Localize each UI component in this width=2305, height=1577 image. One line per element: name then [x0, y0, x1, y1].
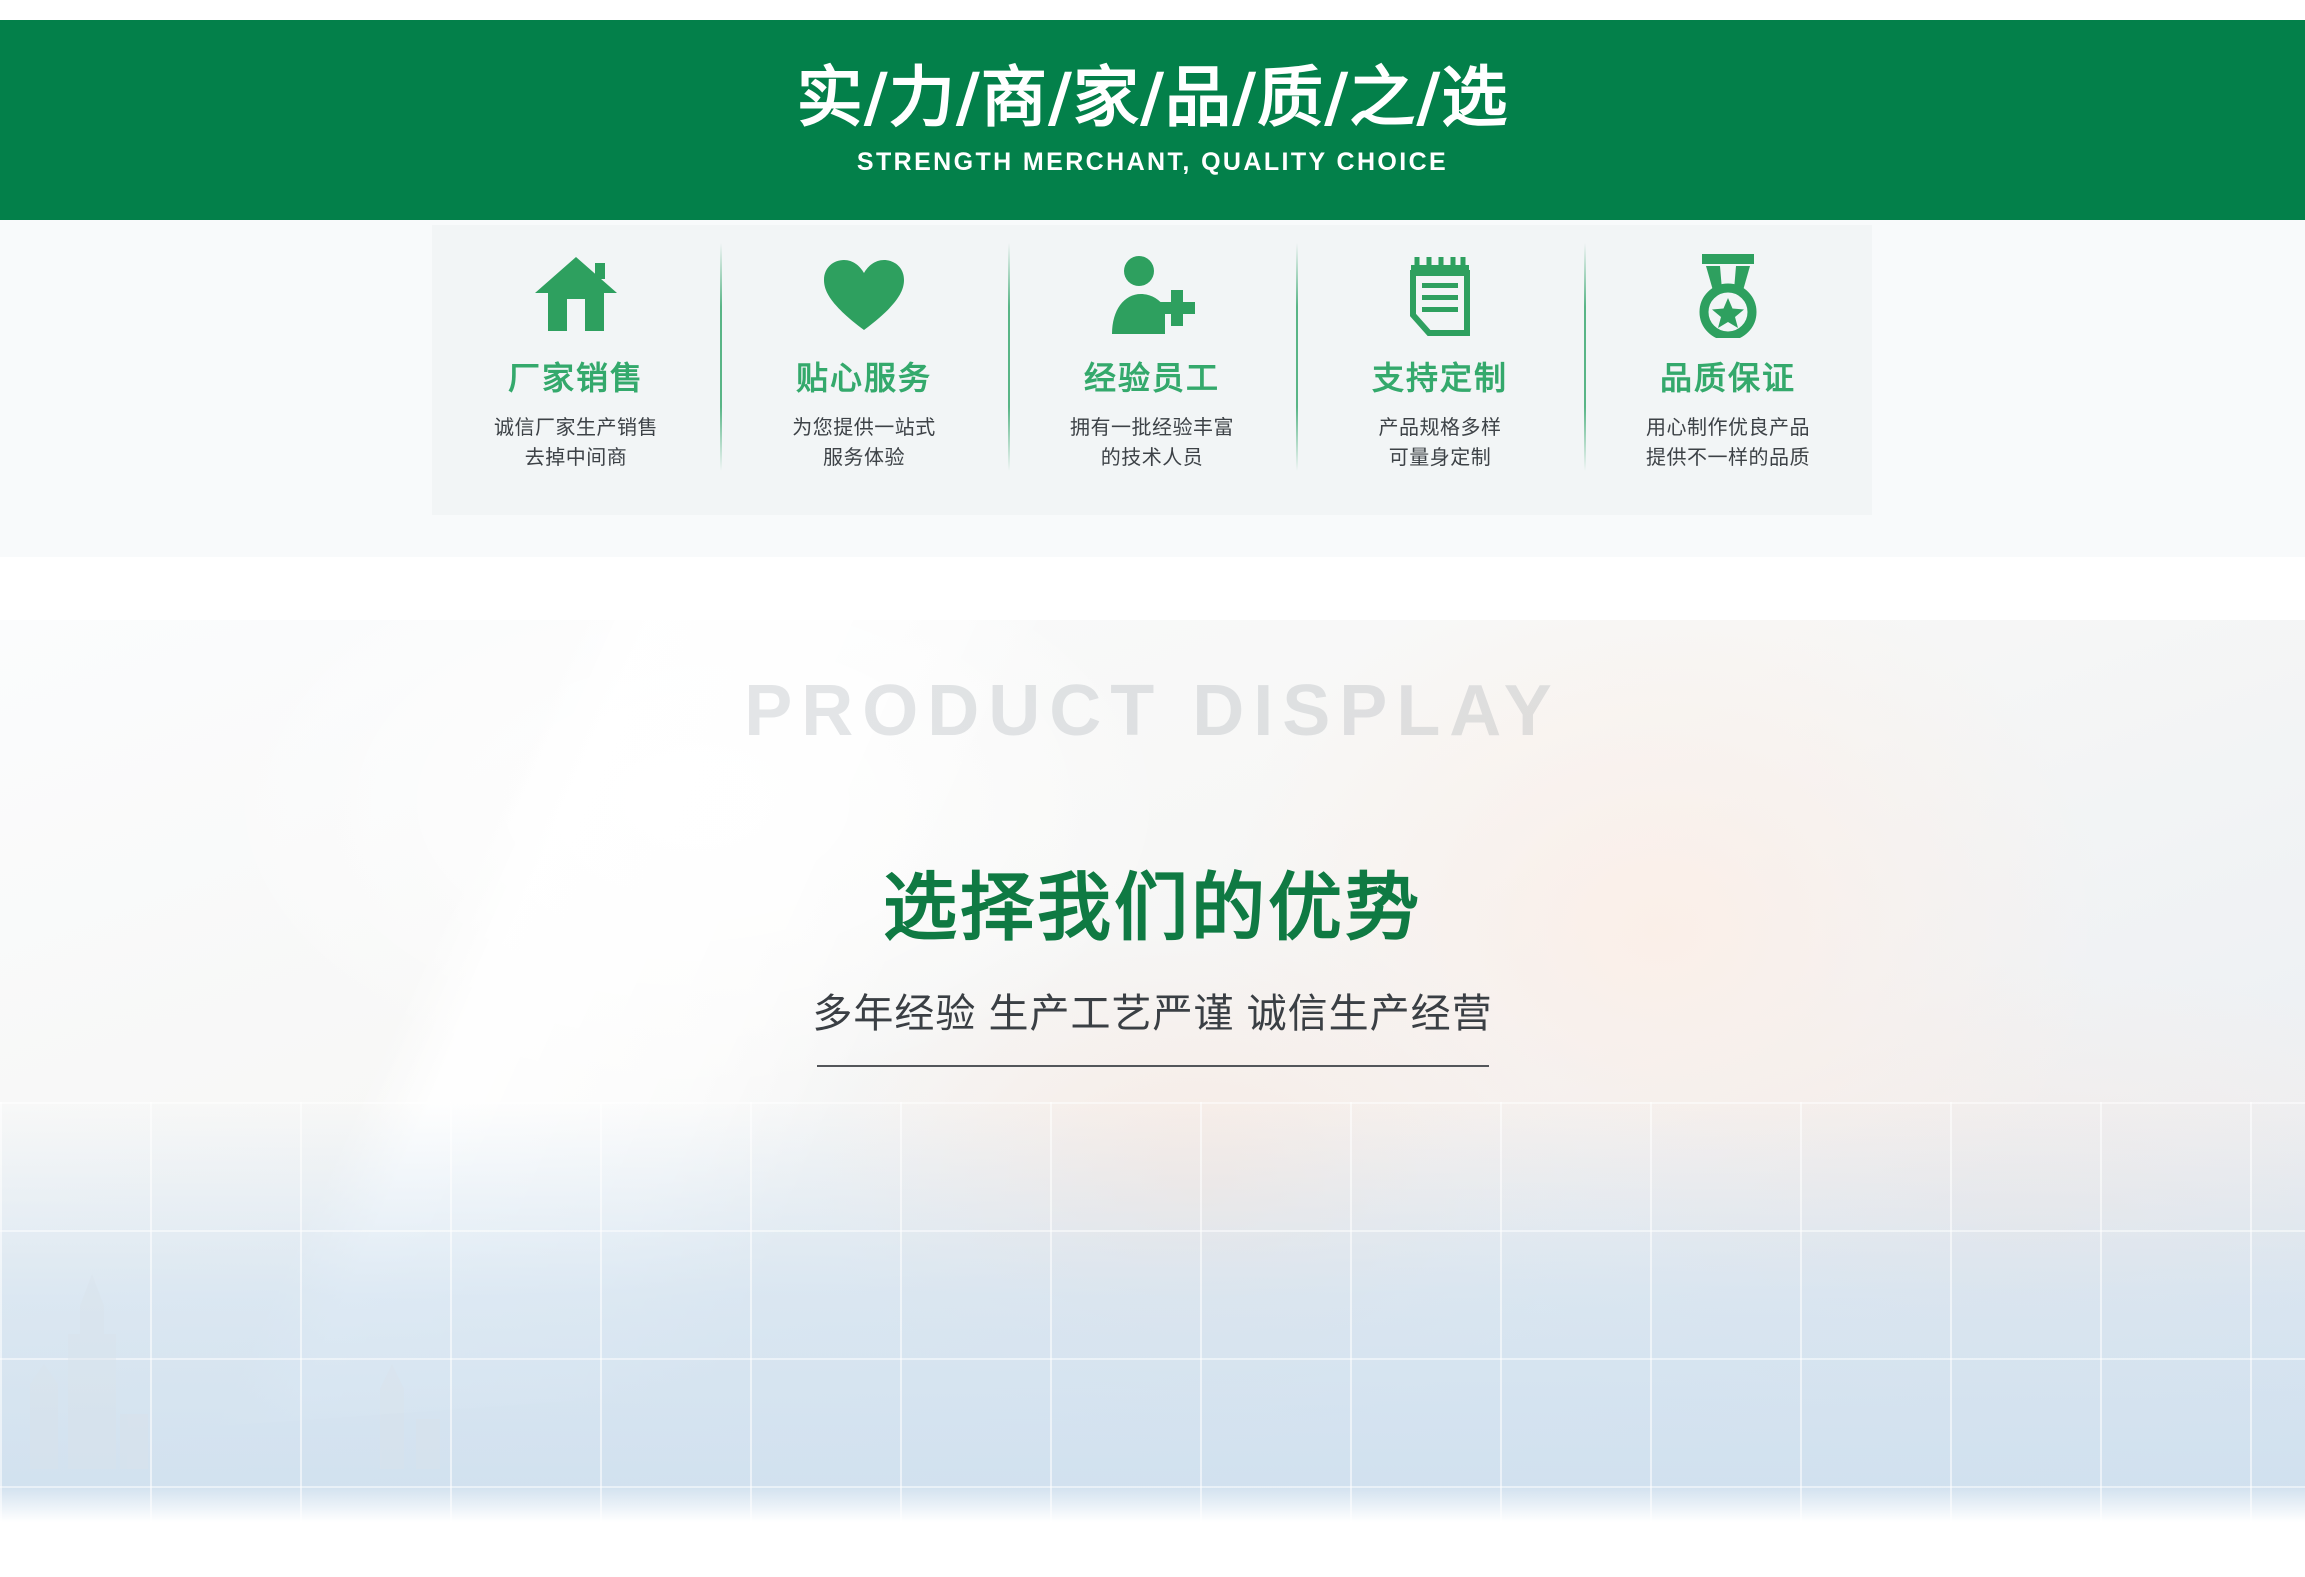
- feature-item-manufacturer-sales[interactable]: 厂家销售 诚信厂家生产销售 去掉中间商: [432, 225, 720, 515]
- advantages-section: 选择我们的优势PRODUCT DISPLAY 多年经验 生产工艺严谨 诚信生产经…: [0, 620, 2305, 1532]
- feature-title: 贴心服务: [796, 353, 932, 399]
- feature-desc: 用心制作优良产品 提供不一样的品质: [1646, 413, 1810, 473]
- feature-desc: 诚信厂家生产销售 去掉中间商: [494, 413, 658, 473]
- section-title: 选择我们的优势PRODUCT DISPLAY: [0, 848, 2305, 955]
- section-heading-block: 选择我们的优势PRODUCT DISPLAY 多年经验 生产工艺严谨 诚信生产经…: [0, 620, 2305, 1067]
- feature-title: 品质保证: [1660, 353, 1796, 399]
- feature-title: 厂家销售: [508, 353, 644, 399]
- page-title: 实/力/商/家/品/质/之/选: [797, 63, 1509, 132]
- add-user-icon: [1109, 253, 1195, 337]
- feature-strip: 厂家销售 诚信厂家生产销售 去掉中间商 贴心服务 为您提供一站式 服务体验: [0, 220, 2305, 557]
- feature-item-custom-support[interactable]: 支持定制 产品规格多样 可量身定制: [1296, 225, 1584, 515]
- feature-desc: 拥有一批经验丰富 的技术人员: [1070, 413, 1234, 473]
- feature-item-experienced-staff[interactable]: 经验员工 拥有一批经验丰富 的技术人员: [1008, 225, 1296, 515]
- page-subtitle: STRENGTH MERCHANT, QUALITY CHOICE: [857, 148, 1448, 177]
- feature-title: 支持定制: [1372, 353, 1508, 399]
- section-watermark: PRODUCT DISPLAY: [744, 670, 1560, 752]
- feature-desc: 产品规格多样 可量身定制: [1379, 413, 1502, 473]
- medal-icon: [1692, 253, 1764, 337]
- feature-panel: 厂家销售 诚信厂家生产销售 去掉中间商 贴心服务 为您提供一站式 服务体验: [432, 225, 1872, 515]
- feature-title: 经验员工: [1084, 353, 1220, 399]
- page-root: 实/力/商/家/品/质/之/选 STRENGTH MERCHANT, QUALI…: [0, 0, 2305, 1577]
- feature-item-caring-service[interactable]: 贴心服务 为您提供一站式 服务体验: [720, 225, 1008, 515]
- home-icon: [533, 253, 619, 337]
- skyline-silhouette-icon: [20, 1214, 440, 1474]
- section-divider: [817, 1065, 1489, 1067]
- feature-item-quality-guarantee[interactable]: 品质保证 用心制作优良产品 提供不一样的品质: [1584, 225, 1872, 515]
- page-header-banner: 实/力/商/家/品/质/之/选 STRENGTH MERCHANT, QUALI…: [0, 20, 2305, 220]
- section-subtitle: 多年经验 生产工艺严谨 诚信生产经营: [0, 981, 2305, 1039]
- bottom-fade: [0, 1486, 2305, 1532]
- notepad-icon: [1407, 253, 1473, 337]
- heart-icon: [822, 253, 906, 337]
- feature-desc: 为您提供一站式 服务体验: [792, 413, 936, 473]
